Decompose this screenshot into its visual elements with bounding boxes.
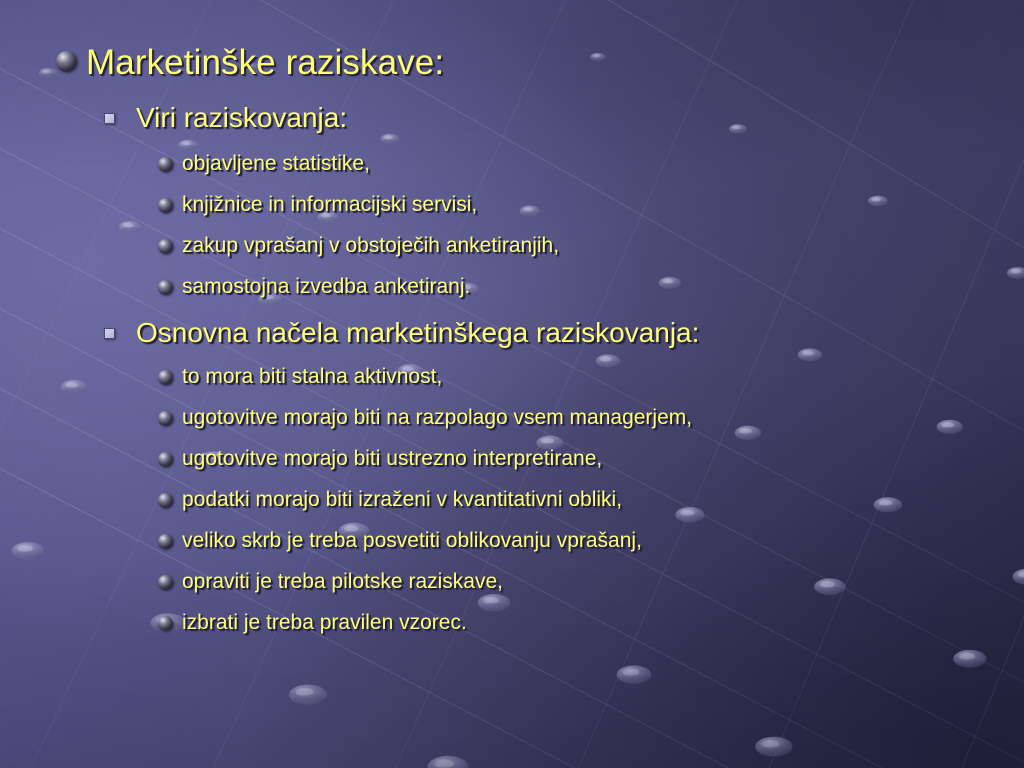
list-item: veliko skrb je treba posvetiti oblikovan… (158, 527, 642, 555)
list-item-label: ugotovitve morajo biti ustrezno interpre… (182, 445, 602, 473)
list-item: objavljene statistike, (158, 150, 370, 178)
square-bullet-icon (104, 100, 136, 124)
list-item: opraviti je treba pilotske raziskave, (158, 568, 503, 596)
list-item-label: ugotovitve morajo biti na razpolago vsem… (182, 404, 692, 432)
list-item: samostojna izvedba anketiranj. (158, 273, 470, 301)
sphere-bullet-icon (158, 150, 182, 172)
list-item: izbrati je treba pravilen vzorec. (158, 609, 467, 637)
list-item-label: izbrati je treba pravilen vzorec. (182, 609, 467, 637)
sphere-bullet-icon (158, 232, 182, 254)
list-item-label: to mora biti stalna aktivnost, (182, 363, 442, 391)
slide-title-row: Marketinške raziskave: (56, 42, 444, 84)
list-item: podatki morajo biti izraženi v kvantitat… (158, 486, 622, 514)
list-item-label: knjižnice in informacijski servisi, (182, 191, 477, 219)
sphere-bullet-icon (158, 191, 182, 213)
list-item: knjižnice in informacijski servisi, (158, 191, 477, 219)
list-item-label: objavljene statistike, (182, 150, 370, 178)
list-item-label: opraviti je treba pilotske raziskave, (182, 568, 503, 596)
sphere-bullet-icon (158, 486, 182, 508)
page-title: Marketinške raziskave: (86, 42, 444, 84)
list-item: ugotovitve morajo biti na razpolago vsem… (158, 404, 692, 432)
list-item: to mora biti stalna aktivnost, (158, 363, 442, 391)
slide: Marketinške raziskave: Viri raziskovanja… (0, 0, 1024, 768)
section-heading-label: Osnovna načela marketinškega raziskovanj… (136, 315, 699, 351)
section-heading-viri: Viri raziskovanja: (104, 100, 347, 136)
section-heading-osnovna-nacela: Osnovna načela marketinškega raziskovanj… (104, 315, 699, 351)
square-bullet-icon (104, 315, 136, 339)
sphere-bullet-icon (158, 609, 182, 631)
sphere-bullet-icon (158, 363, 182, 385)
sphere-bullet-icon (158, 273, 182, 295)
list-item-label: zakup vprašanj v obstoječih anketiranjih… (182, 232, 559, 260)
sphere-bullet-icon (158, 404, 182, 426)
sphere-bullet-icon (158, 568, 182, 590)
sphere-bullet-icon (158, 445, 182, 467)
slide-content: Marketinške raziskave: Viri raziskovanja… (0, 0, 1024, 768)
sphere-bullet-icon (56, 42, 86, 72)
list-item: zakup vprašanj v obstoječih anketiranjih… (158, 232, 559, 260)
list-item: ugotovitve morajo biti ustrezno interpre… (158, 445, 602, 473)
sphere-bullet-icon (158, 527, 182, 549)
list-item-label: samostojna izvedba anketiranj. (182, 273, 470, 301)
list-item-label: podatki morajo biti izraženi v kvantitat… (182, 486, 622, 514)
list-item-label: veliko skrb je treba posvetiti oblikovan… (182, 527, 642, 555)
section-heading-label: Viri raziskovanja: (136, 100, 347, 136)
